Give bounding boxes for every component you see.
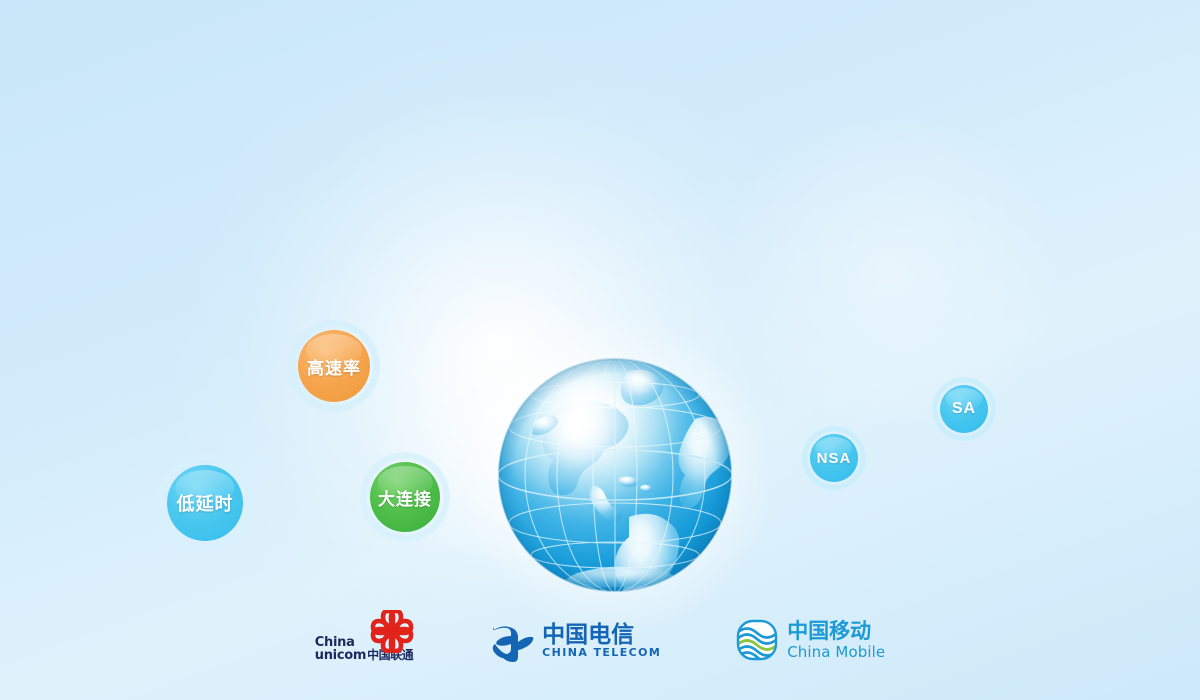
bubble-massive-connection[interactable]: 大连接: [370, 462, 440, 532]
mobile-name-en: China Mobile: [787, 644, 885, 660]
background-glow-right: [700, 120, 1080, 420]
earth-globe: [497, 357, 733, 593]
mobile-wordmark: 中国移动 China Mobile: [787, 621, 885, 660]
telecom-name-en: CHINA TELECOM: [542, 647, 661, 658]
earth-globe-graphic: [497, 357, 733, 593]
telecom-mark-icon: [489, 618, 535, 662]
carrier-logo-china-telecom[interactable]: 中国电信 CHINA TELECOM: [489, 614, 661, 666]
bubble-label: 低延时: [177, 490, 234, 516]
bubble-high-speed[interactable]: 高速率: [298, 330, 370, 402]
mobile-wave-mark-icon: [735, 618, 779, 662]
bubble-label: SA: [952, 400, 976, 418]
carrier-logo-strip: China unicom 中国联通: [0, 608, 1200, 672]
unicom-knot-icon: [369, 610, 415, 654]
bubble-nsa[interactable]: NSA: [810, 434, 858, 482]
bubble-label: 大连接: [378, 485, 432, 510]
mobile-name-cn: 中国移动: [787, 621, 885, 643]
bubble-sa[interactable]: SA: [940, 385, 988, 433]
bubble-low-latency[interactable]: 低延时: [167, 465, 243, 541]
bubble-label: NSA: [817, 450, 852, 467]
page-canvas: 高速率 低延时 大连接 NSA SA China unicom 中国联通: [0, 0, 1200, 700]
telecom-wordmark: 中国电信 CHINA TELECOM: [542, 622, 661, 658]
carrier-logo-china-mobile[interactable]: 中国移动 China Mobile: [735, 614, 885, 666]
telecom-name-cn: 中国电信: [542, 622, 661, 646]
carrier-logo-china-unicom[interactable]: China unicom 中国联通: [315, 614, 415, 666]
bubble-label: 高速率: [307, 354, 361, 379]
unicom-name-en-line2: unicom: [315, 650, 366, 662]
